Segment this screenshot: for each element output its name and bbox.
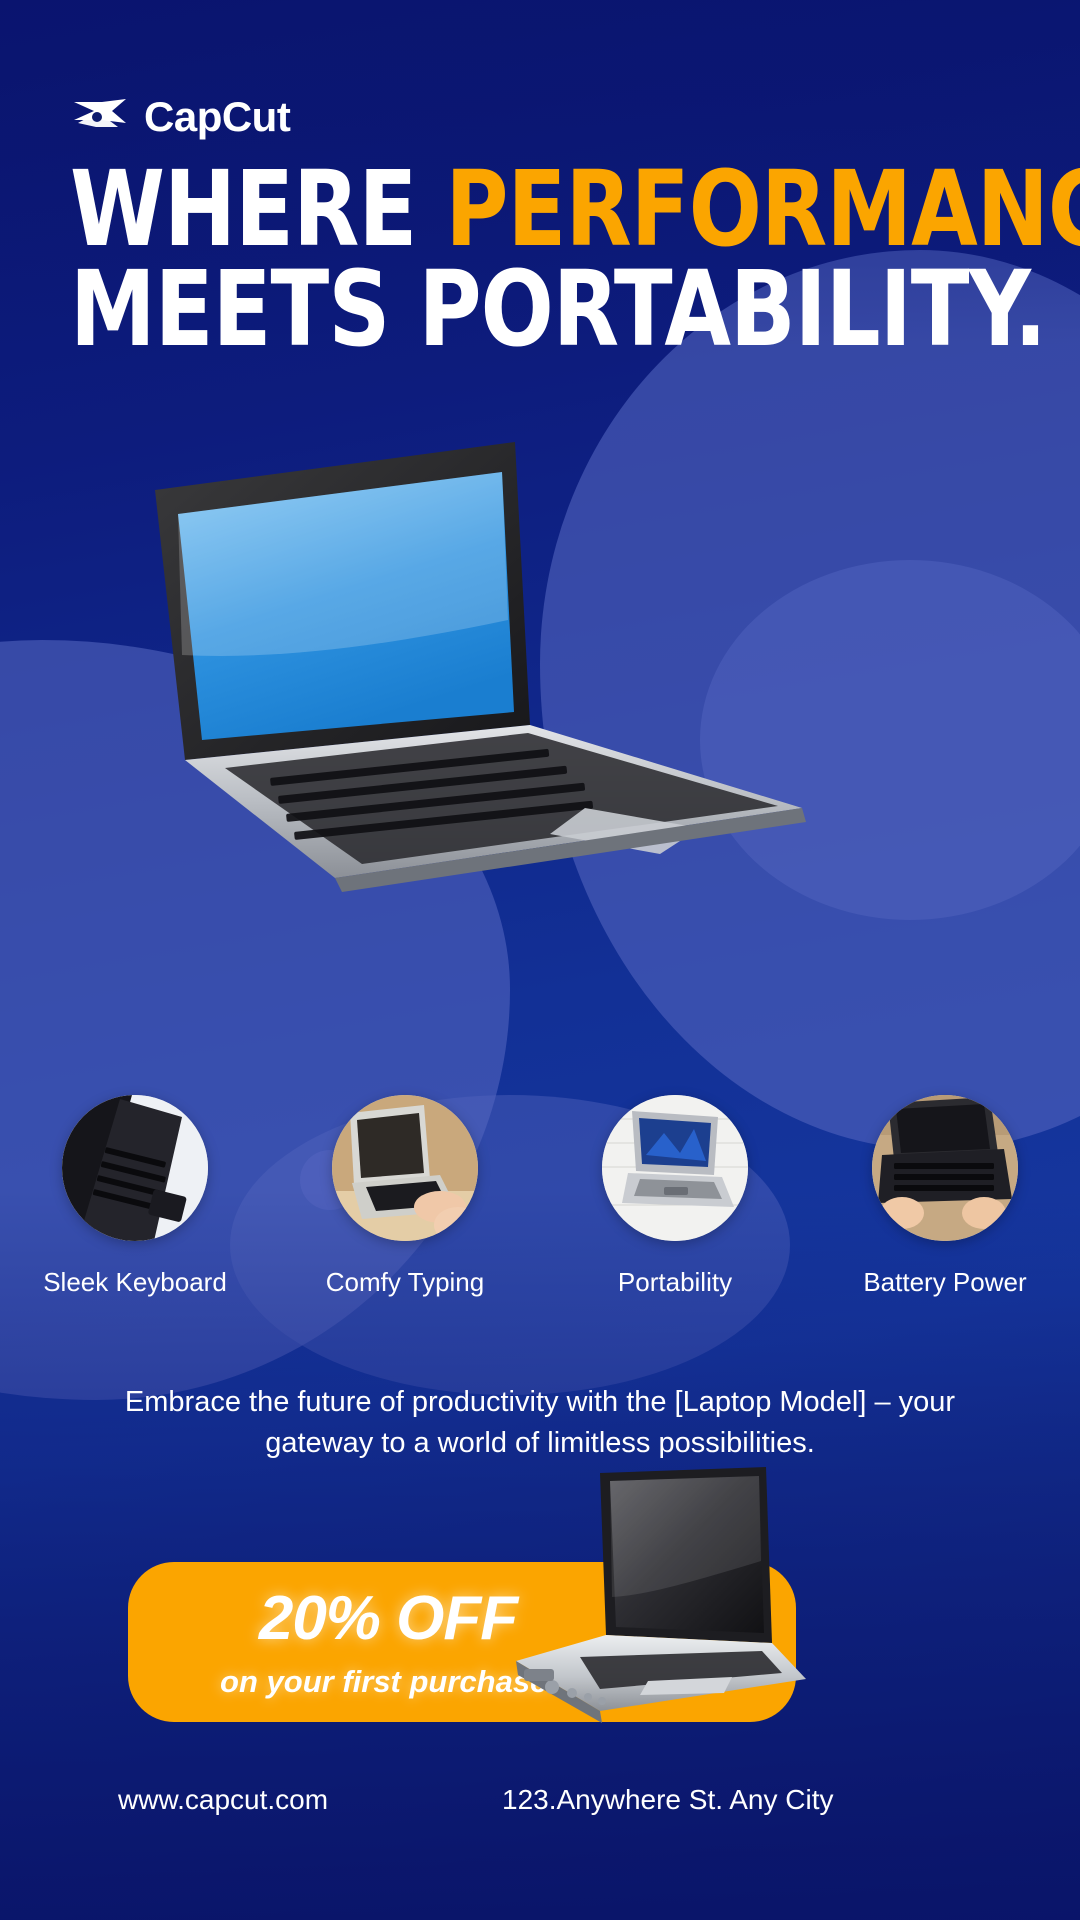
feature-item-portability[interactable]: Portability: [540, 1095, 810, 1295]
feature-thumb-battery-power: [872, 1095, 1018, 1241]
feature-label: Portability: [618, 1269, 732, 1295]
laptop-keyboard-closeup-photo-icon: [62, 1095, 208, 1241]
brand-logo[interactable]: CapCut: [72, 96, 290, 138]
feature-item-battery-power[interactable]: Battery Power: [810, 1095, 1080, 1295]
feature-label: Sleek Keyboard: [43, 1269, 227, 1295]
brand-name: CapCut: [144, 96, 290, 138]
feature-item-sleek-keyboard[interactable]: Sleek Keyboard: [0, 1095, 270, 1295]
feature-list: Sleek Keyboard Comfy Typing: [0, 1095, 1080, 1295]
feature-thumb-comfy-typing: [332, 1095, 478, 1241]
cta-laptop-image: [480, 1465, 810, 1735]
feature-label: Battery Power: [863, 1269, 1026, 1295]
cta-headline: 20% OFF: [259, 1588, 517, 1650]
promo-poster: CapCut WHERE PERFORMANCE MEETS PORTABILI…: [0, 0, 1080, 1920]
hands-typing-on-laptop-photo-icon: [332, 1095, 478, 1241]
footer-website[interactable]: www.capcut.com: [118, 1786, 328, 1814]
feature-label: Comfy Typing: [326, 1269, 484, 1295]
page-title: WHERE PERFORMANCE MEETS PORTABILITY.: [70, 160, 1010, 360]
headline-line-2: MEETS PORTABILITY.: [70, 260, 935, 360]
small-laptop-on-desk-photo-icon: [602, 1095, 748, 1241]
feature-item-comfy-typing[interactable]: Comfy Typing: [270, 1095, 540, 1295]
feature-thumb-sleek-keyboard: [62, 1095, 208, 1241]
capcut-bowtie-icon: [72, 97, 128, 137]
headline-line-1: WHERE PERFORMANCE: [70, 160, 935, 260]
body-paragraph: Embrace the future of productivity with …: [110, 1382, 970, 1464]
hero-laptop-image: [130, 430, 830, 900]
feature-thumb-portability: [602, 1095, 748, 1241]
laptop-on-wooden-desk-photo-icon: [872, 1095, 1018, 1241]
footer-address: 123.Anywhere St. Any City: [502, 1786, 834, 1814]
